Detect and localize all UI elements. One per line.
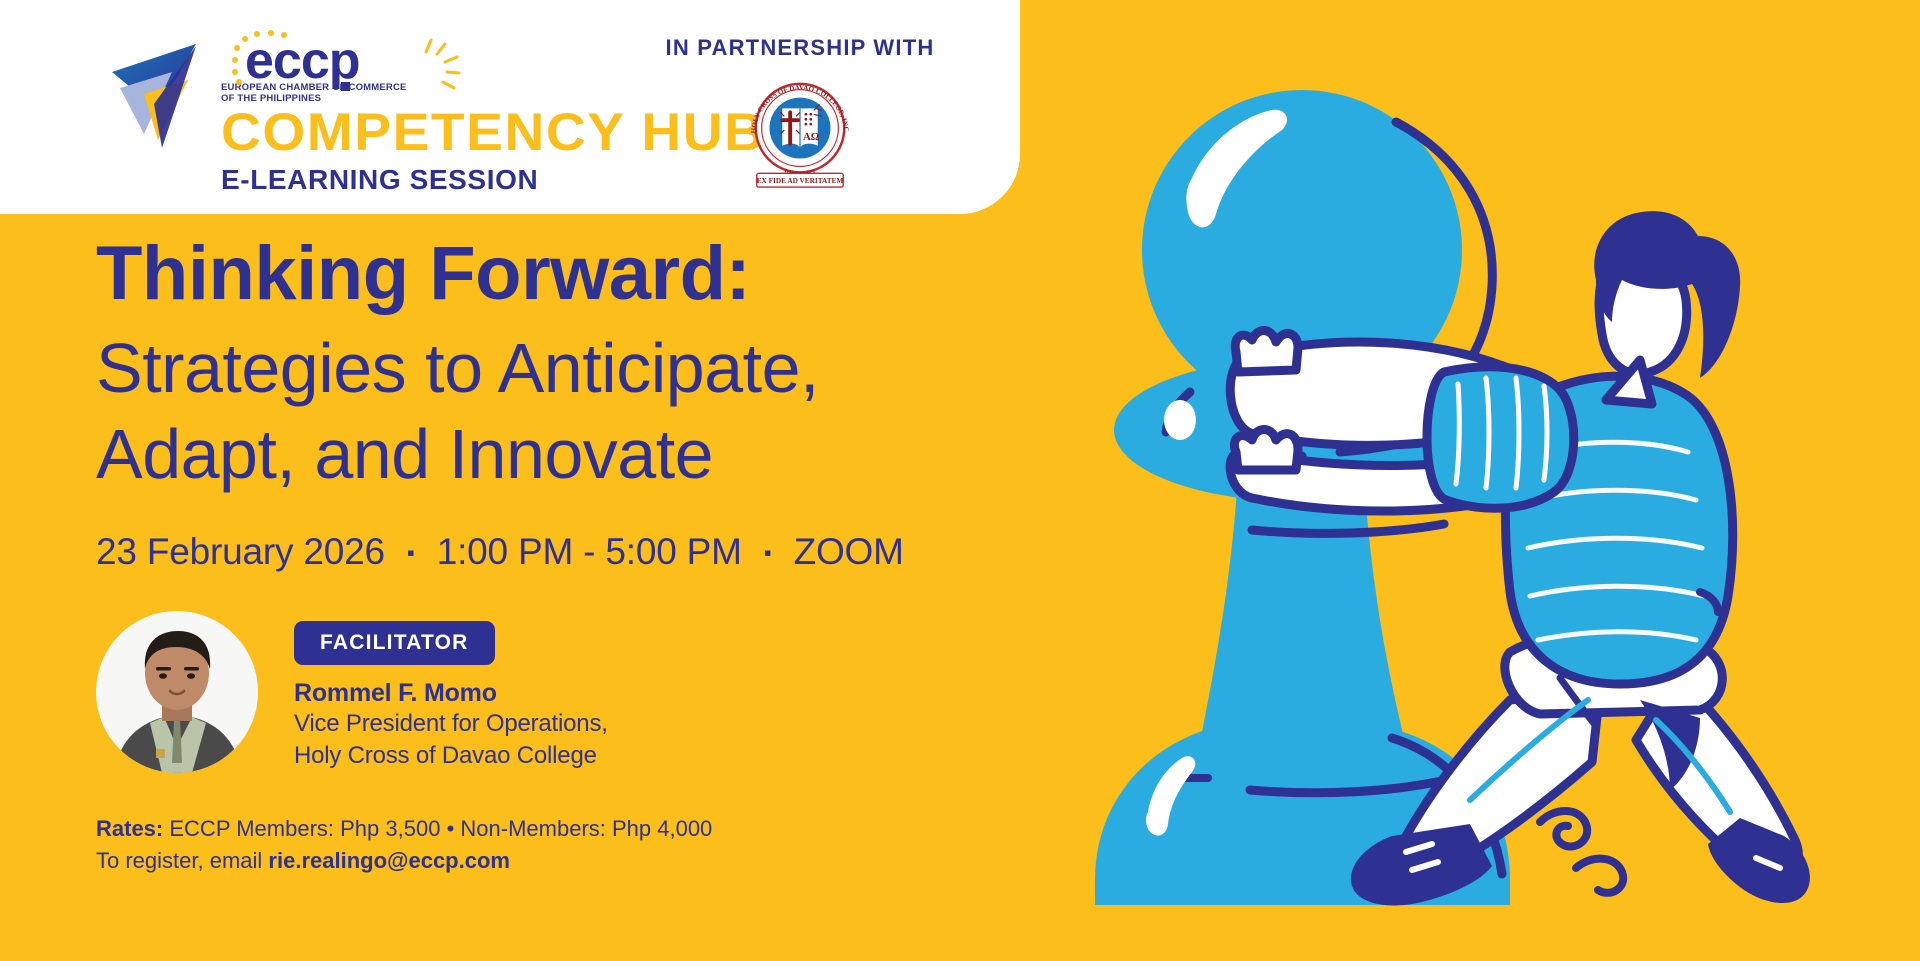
rates-label: Rates: bbox=[96, 816, 163, 841]
partnership-block: IN PARTNERSHIP WITH bbox=[650, 35, 950, 191]
facilitator-name: Rommel F. Momo bbox=[294, 679, 608, 708]
event-time: 1:00 PM - 5:00 PM bbox=[437, 531, 742, 572]
header-panel: eccp EUROPEAN CHAMBER OF COMMERCE OF THE… bbox=[0, 0, 1020, 214]
rates-separator: • bbox=[447, 816, 455, 841]
rates-non-members: Non-Members: Php 4,000 bbox=[460, 816, 712, 841]
eccp-plane-icon bbox=[110, 36, 215, 161]
svg-text:eccp: eccp bbox=[245, 32, 360, 90]
facilitator-block: FACILITATOR Rommel F. Momo Vice Presiden… bbox=[96, 611, 1116, 773]
register-line: To register, email rie.realingo@eccp.com bbox=[96, 845, 1116, 877]
hcdc-seal-icon: AΩ HOLY CROSS OF DAVAO COLLEGE, INC. DAV… bbox=[741, 73, 859, 191]
facilitator-role-line-2: Holy Cross of Davao College bbox=[294, 740, 608, 772]
event-title-line-1: Thinking Forward: bbox=[96, 234, 1116, 315]
facilitator-role-line-1: Vice President for Operations, bbox=[294, 708, 608, 740]
event-banner: eccp EUROPEAN CHAMBER OF COMMERCE OF THE… bbox=[0, 0, 1920, 961]
event-title-line-3: Adapt, and Innovate bbox=[96, 417, 1116, 491]
partnership-label: IN PARTNERSHIP WITH bbox=[650, 35, 950, 61]
event-meta: 23 February 2026 ▪ 1:00 PM - 5:00 PM ▪ Z… bbox=[96, 531, 1116, 573]
register-email[interactable]: rie.realingo@eccp.com bbox=[268, 848, 510, 873]
seal-motto: EX FIDE AD VERITATEM bbox=[757, 177, 844, 185]
event-platform: ZOOM bbox=[794, 531, 904, 572]
facilitator-badge: FACILITATOR bbox=[294, 621, 495, 665]
rates-line: Rates: ECCP Members: Php 3,500 • Non-Mem… bbox=[96, 813, 1116, 845]
event-date: 23 February 2026 bbox=[96, 531, 385, 572]
rates-members: ECCP Members: Php 3,500 bbox=[169, 816, 440, 841]
seal-year: 1951 bbox=[793, 149, 808, 158]
facilitator-avatar bbox=[96, 611, 258, 773]
svg-text:AΩ: AΩ bbox=[803, 131, 820, 143]
meta-separator-1: ▪ bbox=[407, 540, 415, 566]
rates-block: Rates: ECCP Members: Php 3,500 • Non-Mem… bbox=[96, 813, 1116, 877]
event-title-line-2: Strategies to Anticipate, bbox=[96, 331, 1116, 405]
register-prefix: To register, email bbox=[96, 848, 262, 873]
illustration-chess-pawn-push bbox=[1040, 0, 1920, 961]
event-copy: Thinking Forward: Strategies to Anticipa… bbox=[96, 234, 1116, 877]
meta-separator-2: ▪ bbox=[764, 540, 772, 566]
